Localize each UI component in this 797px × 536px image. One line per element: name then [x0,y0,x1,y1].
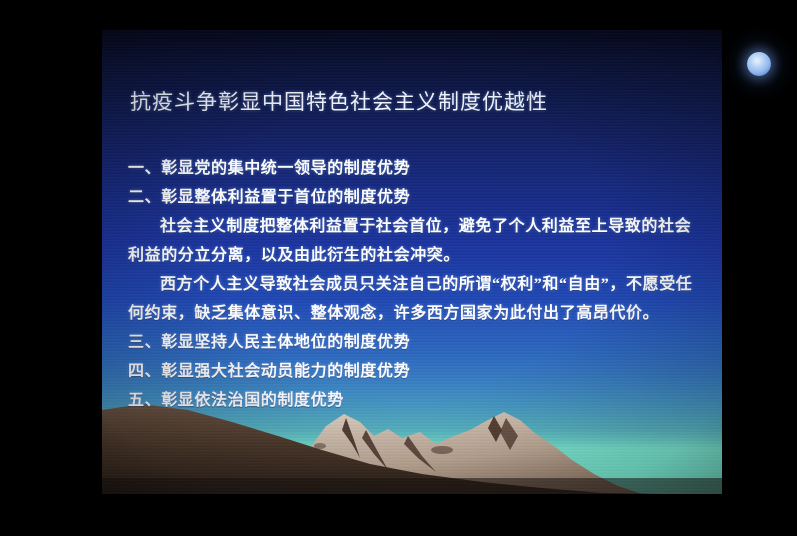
screenshot-stage: 抗疫斗争彰显中国特色社会主义制度优越性 一、彰显党的集中统一领导的制度优势 二、… [0,0,797,536]
slide-title: 抗疫斗争彰显中国特色社会主义制度优越性 [130,86,548,116]
bullet-line-1: 一、彰显党的集中统一领导的制度优势 [128,154,702,183]
bullet-line-5: 五、彰显依法治国的制度优势 [128,386,702,415]
glowing-dot-icon [747,52,771,76]
slide-body: 一、彰显党的集中统一领导的制度优势 二、彰显整体利益置于首位的制度优势 社会主义… [128,154,702,415]
bullet-line-2: 二、彰显整体利益置于首位的制度优势 [128,183,702,212]
presentation-slide: 抗疫斗争彰显中国特色社会主义制度优越性 一、彰显党的集中统一领导的制度优势 二、… [102,30,722,494]
bullet-line-4: 四、彰显强大社会动员能力的制度优势 [128,357,702,386]
bullet-line-3: 三、彰显坚持人民主体地位的制度优势 [128,328,702,357]
paragraph-2: 西方个人主义导致社会成员只关注自己的所谓“权利”和“自由”，不愿受任何约束，缺乏… [128,270,702,328]
paragraph-1: 社会主义制度把整体利益置于社会首位，避免了个人利益至上导致的社会利益的分立分离，… [128,212,702,270]
